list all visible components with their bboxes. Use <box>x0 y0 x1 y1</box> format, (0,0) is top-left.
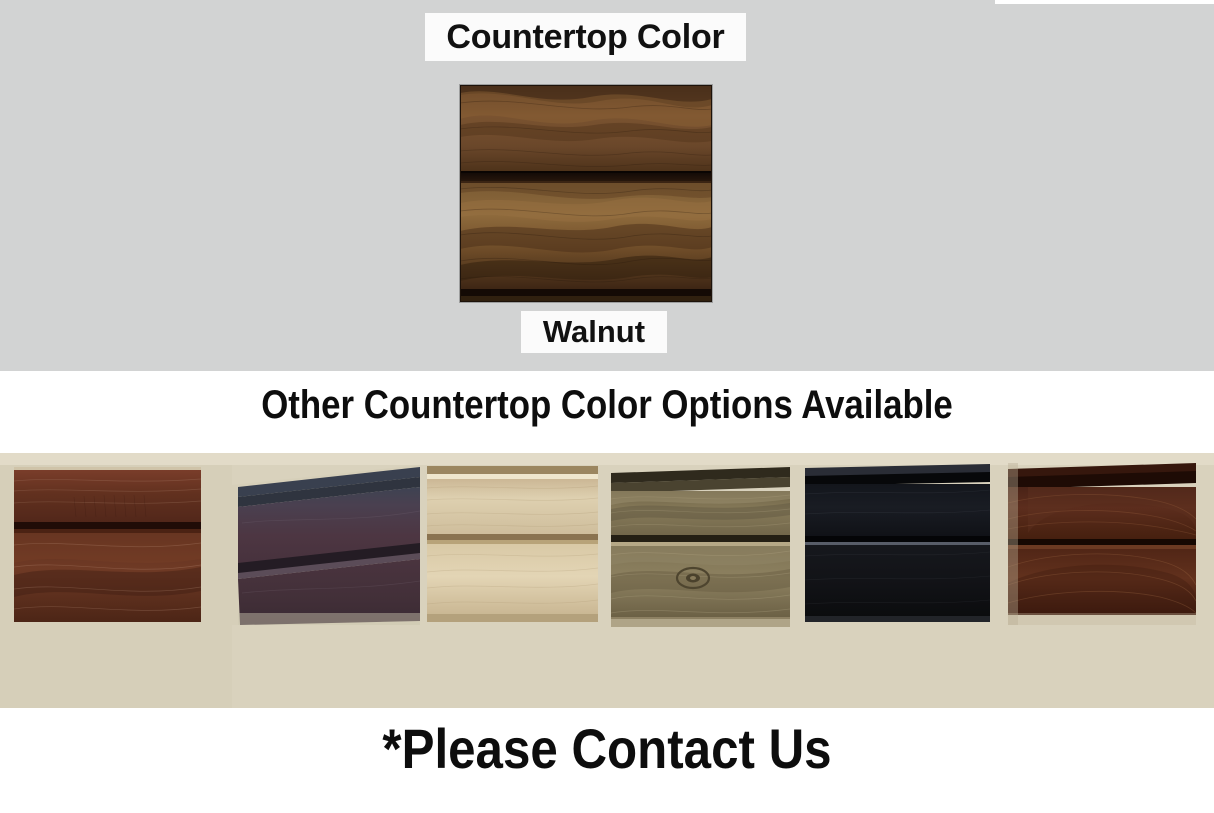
walnut-label: Walnut <box>521 311 667 353</box>
countertop-color-page: Countertop Color <box>0 0 1214 813</box>
pewter-swatch[interactable] <box>611 465 790 627</box>
antique-white-swatch-image <box>427 466 598 622</box>
pewter-swatch-image <box>611 465 790 627</box>
rich-tobacco-swatch[interactable] <box>1008 463 1196 625</box>
burgundy-swatch[interactable] <box>232 463 420 625</box>
page-title-label: Countertop Color <box>446 18 724 57</box>
walnut-swatch[interactable] <box>460 85 712 302</box>
walnut-label-text: Walnut <box>543 314 645 350</box>
cherry-swatch[interactable] <box>14 467 201 622</box>
black-swatch[interactable] <box>805 464 990 622</box>
burgundy-swatch-image <box>232 463 420 625</box>
black-swatch-image <box>805 464 990 622</box>
walnut-swatch-image <box>460 85 712 302</box>
rich-tobacco-swatch-image <box>1008 463 1196 625</box>
antique-white-swatch[interactable] <box>427 466 598 622</box>
cherry-swatch-image <box>14 467 201 622</box>
contact-note: *Please Contact Us <box>73 716 1141 781</box>
options-heading: Other Countertop Color Options Available <box>79 383 1135 428</box>
page-title: Countertop Color <box>425 13 746 61</box>
top-edge-notch <box>995 0 1214 4</box>
options-swatch-band: Cherry <box>0 453 1214 708</box>
